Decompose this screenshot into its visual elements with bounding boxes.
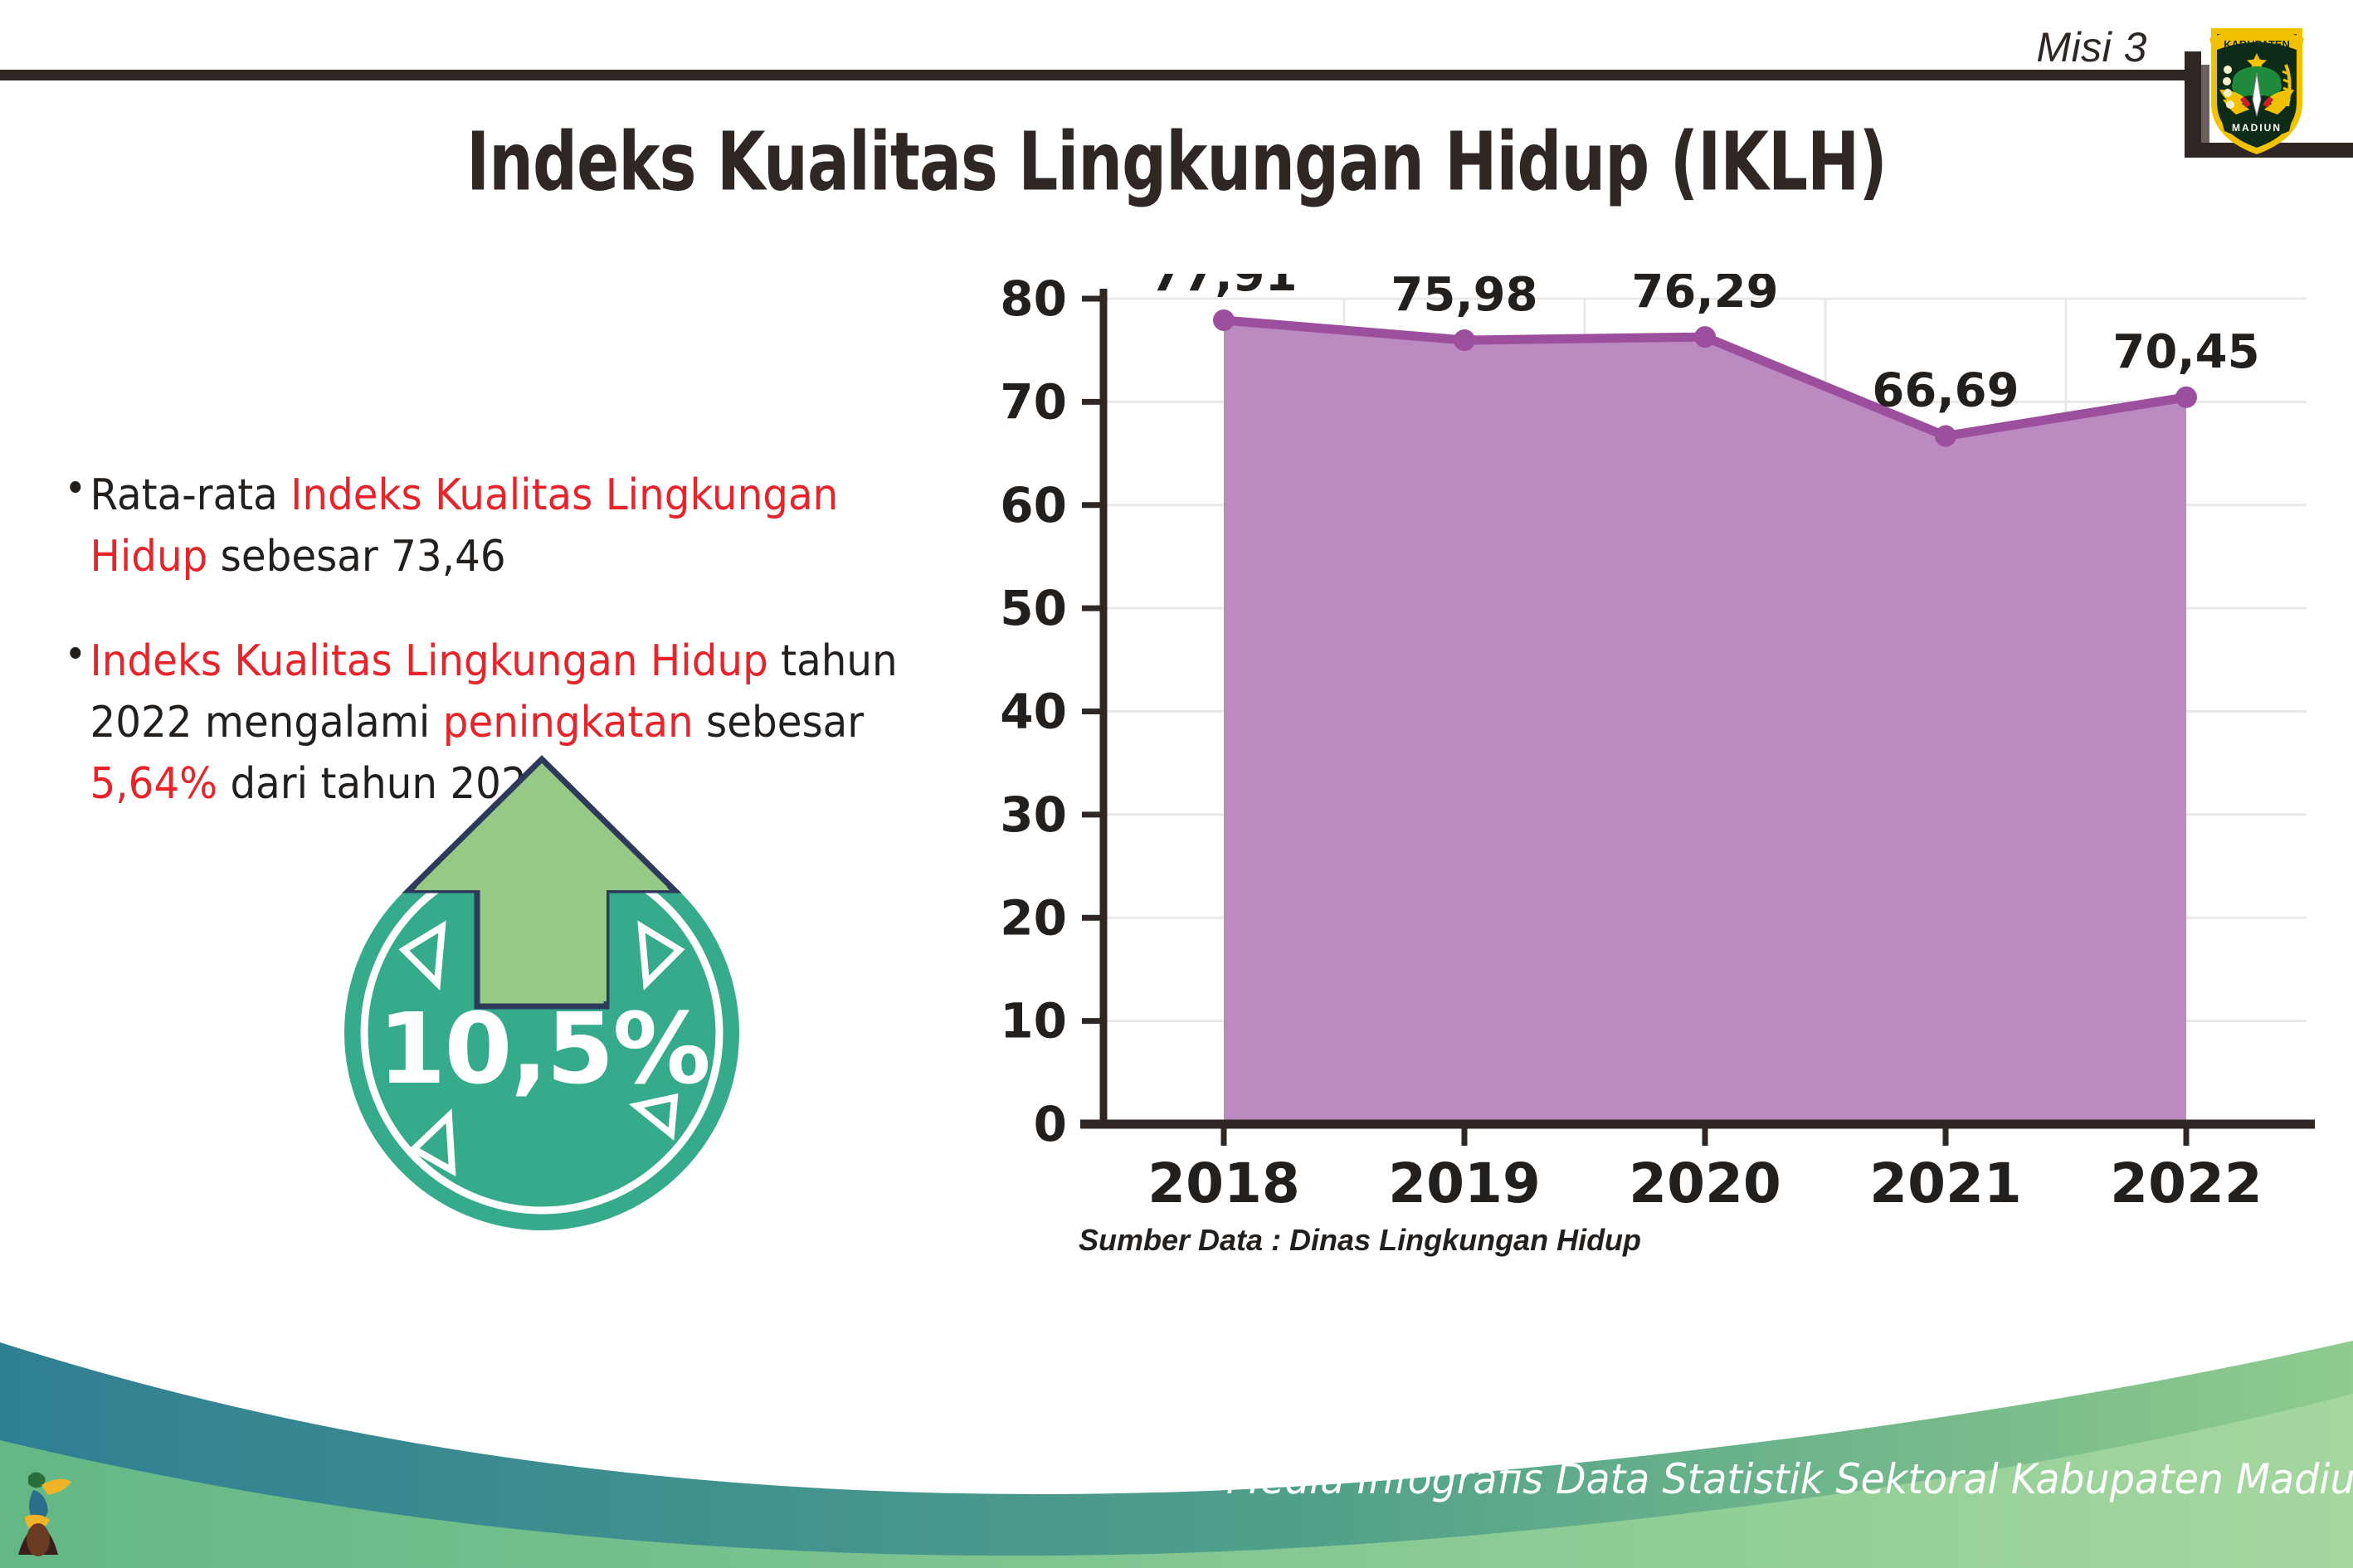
footer-band: Media Infografis Data Statistik Sektoral… — [0, 1294, 2353, 1568]
chart-canvas: 77,9175,9876,2966,6970,45010203040506070… — [979, 274, 2323, 1211]
page-title: Indeks Kualitas Lingkungan Hidup (IKLH) — [94, 116, 2258, 209]
data-point-label: 75,98 — [1391, 274, 1537, 322]
bullet-dot-icon — [70, 647, 80, 659]
header-rule — [0, 70, 2195, 80]
slide-canvas: Misi 3 KABUPATEN — [0, 0, 2353, 1568]
data-point-marker — [1935, 426, 1956, 447]
data-point-marker — [1213, 309, 1235, 331]
bullet-2-seg-1: Indeks Kualitas Lingkungan Hidup — [90, 636, 767, 686]
footer-caption: Media Infografis Data Statistik Sektoral… — [1226, 1455, 2353, 1503]
misi-label: Misi 3 — [2036, 23, 2147, 71]
x-axis-tick-label: 2021 — [1869, 1152, 2022, 1211]
x-axis-tick-label: 2020 — [1629, 1152, 1781, 1211]
x-axis-tick-label: 2022 — [2110, 1152, 2263, 1211]
y-axis-tick-label: 10 — [1000, 993, 1067, 1049]
series-area-fill — [1224, 320, 2186, 1124]
footer-waves — [0, 1294, 2353, 1568]
y-axis-tick-label: 30 — [1000, 786, 1067, 843]
data-point-label: 76,29 — [1631, 274, 1778, 319]
data-point-marker — [1694, 326, 1716, 348]
bullet-2-seg-5: 5,64% — [90, 759, 217, 809]
y-axis-tick-label: 40 — [1000, 684, 1067, 740]
y-axis-tick-label: 70 — [1000, 373, 1067, 430]
data-point-label: 66,69 — [1872, 364, 2019, 418]
data-point-marker — [1454, 329, 1475, 351]
emblem-top-text: KABUPATEN — [2224, 38, 2290, 51]
y-axis-tick-label: 0 — [1034, 1096, 1067, 1152]
bullet-2-seg-3: peningkatan — [443, 698, 694, 747]
bullet-1-seg-3: sebesar 73,46 — [207, 532, 505, 582]
chart-source-note: Sumber Data : Dinas Lingkungan Hidup — [1079, 1223, 1641, 1258]
y-axis-tick-label: 50 — [1000, 580, 1067, 636]
x-axis-tick-label: 2018 — [1147, 1152, 1300, 1211]
bullet-2-seg-4: sebesar — [694, 698, 864, 747]
list-item: Rata-rata Indeks Kualitas Lingkungan Hid… — [73, 465, 922, 587]
bullet-1-seg-1: Rata-rata — [90, 470, 290, 520]
data-point-label: 70,45 — [2112, 325, 2259, 379]
x-axis-tick-label: 2019 — [1388, 1152, 1541, 1211]
y-axis-tick-label: 20 — [1000, 889, 1067, 946]
iklh-area-chart: 77,9175,9876,2966,6970,45010203040506070… — [979, 274, 2323, 1211]
data-point-label: 77,91 — [1150, 274, 1297, 302]
y-axis-tick-label: 80 — [1000, 274, 1067, 327]
badge-value: 10,5% — [328, 991, 759, 1106]
data-point-marker — [2175, 387, 2197, 408]
bullet-dot-icon — [70, 481, 80, 493]
statistik-dancer-logo-icon — [0, 1468, 80, 1568]
increase-badge: 10,5% — [328, 751, 759, 1232]
y-axis-tick-label: 60 — [1000, 477, 1067, 533]
